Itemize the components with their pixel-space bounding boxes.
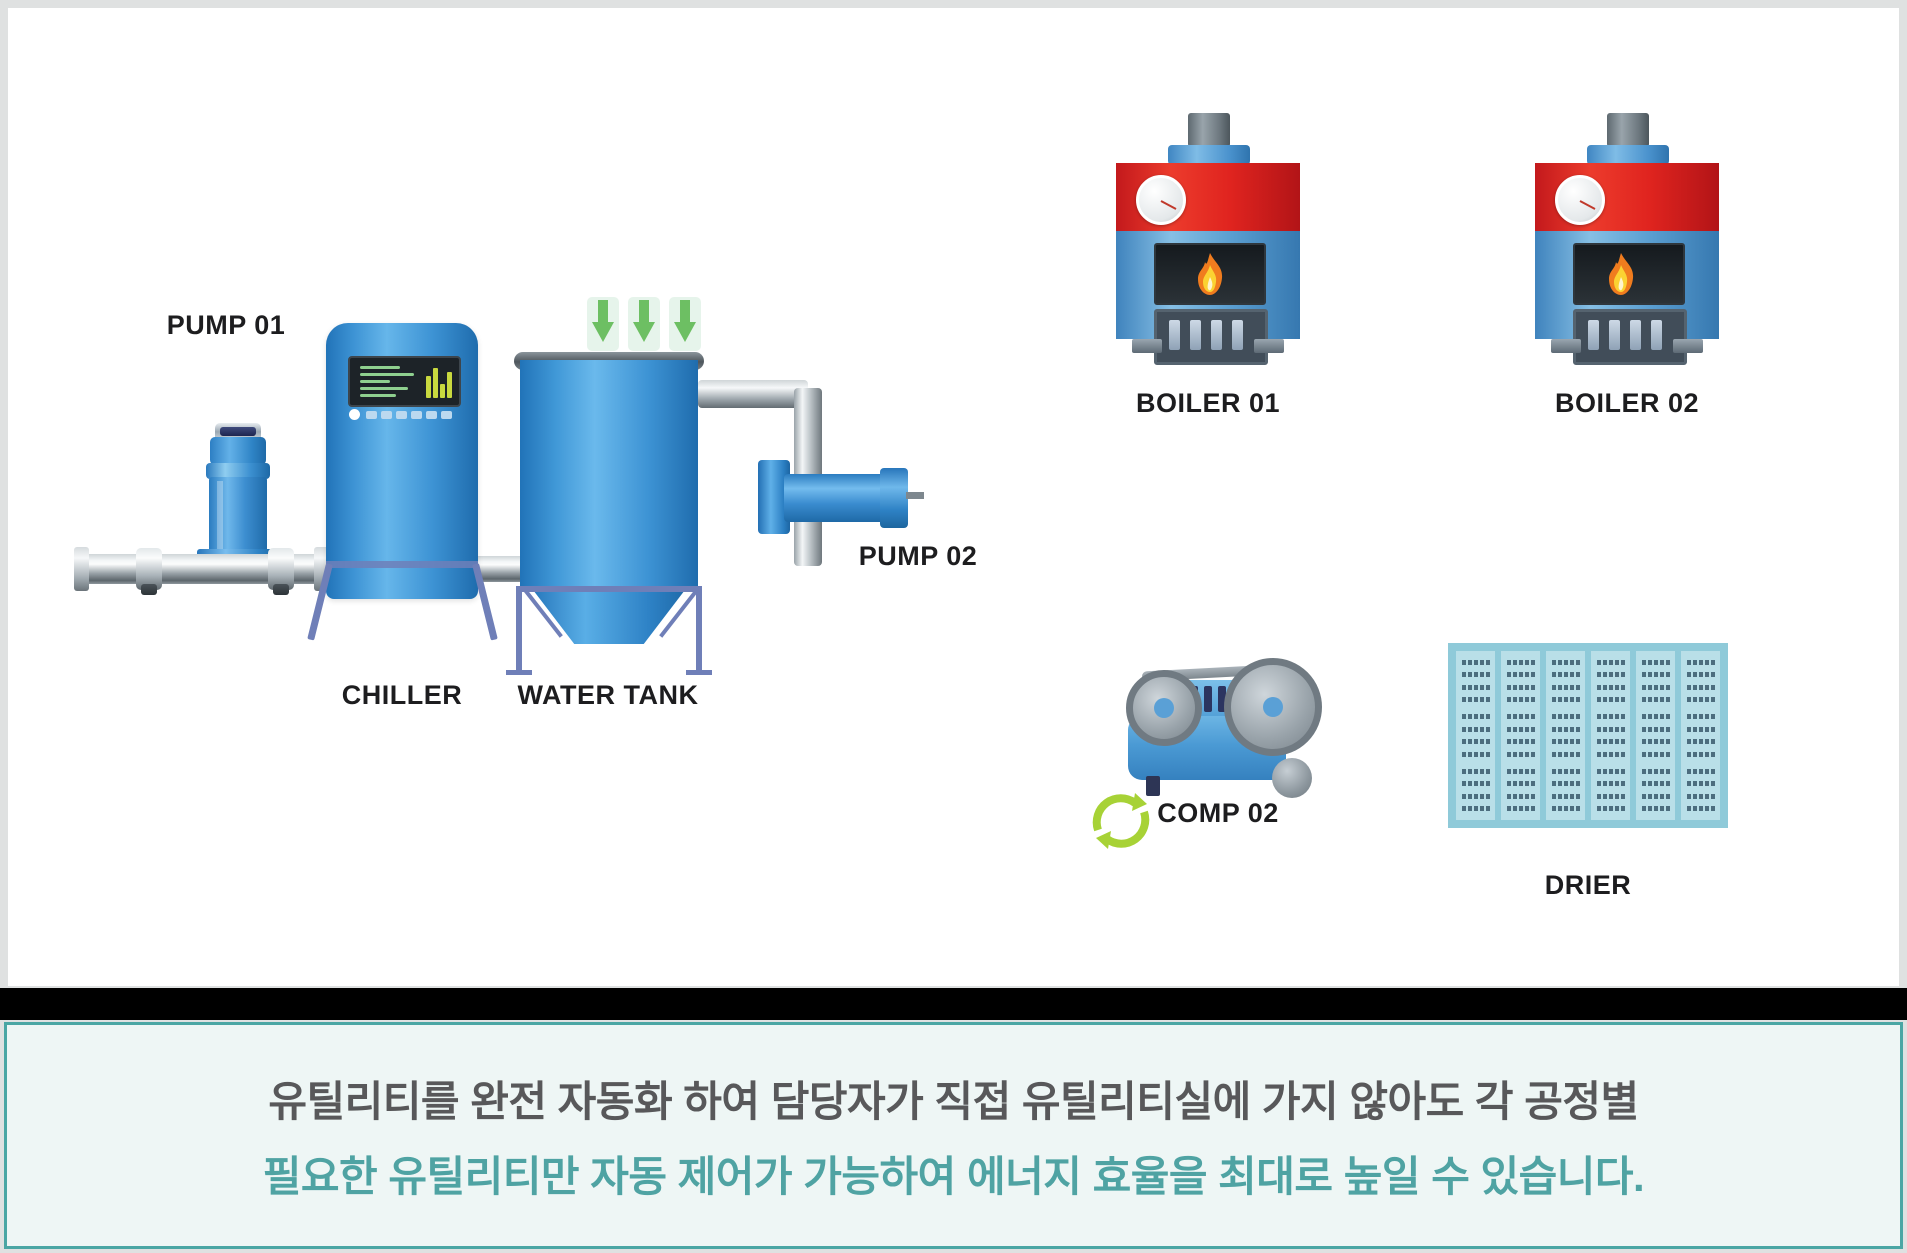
water-tank-frame-top	[516, 586, 702, 592]
drier-cell	[1504, 711, 1537, 761]
chiller-screen-line	[360, 387, 408, 390]
gauge-needle	[1580, 200, 1596, 210]
boiler-02-foot-right	[1673, 339, 1703, 353]
water-tank-label: WATER TANK	[466, 680, 750, 711]
pump-02-label: PUMP 02	[828, 541, 1008, 572]
boiler-01-foot-left	[1132, 339, 1162, 353]
boiler-01-firebox	[1154, 243, 1266, 305]
drier-panel	[1591, 651, 1630, 820]
chiller-screen-line	[360, 380, 390, 383]
chiller-screen-bar	[447, 372, 452, 398]
chiller-indicator	[441, 411, 452, 419]
drier-cell	[1594, 765, 1627, 815]
compressor-fin	[1204, 686, 1212, 712]
chiller-screen-line	[360, 366, 400, 369]
drier-cell	[1594, 711, 1627, 761]
boiler-01-label: BOILER 01	[1098, 388, 1318, 419]
inlet-arrow-icon	[674, 300, 696, 348]
drier-cell	[1684, 711, 1717, 761]
compressor-caster-wheel	[1272, 758, 1312, 798]
chiller-screen-line	[360, 373, 414, 376]
drier-panel	[1456, 651, 1495, 820]
boiler-01-grille	[1154, 309, 1268, 365]
drier-cell	[1639, 765, 1672, 815]
chiller-screen-bar	[440, 384, 445, 398]
inlet-arrow-icon	[592, 300, 614, 348]
chiller-status-led	[349, 409, 360, 420]
caption-line-1: 유틸리티를 완전 자동화 하여 담당자가 직접 유틸리티실에 가지 않아도 각 …	[268, 1068, 1638, 1129]
chiller-illustration	[326, 323, 478, 599]
water-tank-illustration	[520, 360, 698, 588]
arrow-head	[633, 322, 655, 342]
pump-02-pipe-horizontal	[698, 380, 808, 408]
drier-panel	[1501, 651, 1540, 820]
boiler-02-collar	[1587, 145, 1669, 165]
arrow-head	[592, 322, 614, 342]
divider-bar	[0, 988, 1907, 1020]
grille-slat	[1211, 320, 1222, 350]
water-tank-frame-foot-l	[506, 670, 532, 675]
boiler-01-foot-right	[1254, 339, 1284, 353]
grille-slat	[1609, 320, 1620, 350]
drier-panel	[1546, 651, 1585, 820]
chiller-indicator	[396, 411, 407, 419]
water-tank-cone	[530, 586, 688, 644]
chiller-screen-line	[360, 394, 396, 397]
pump-01-body	[209, 477, 267, 555]
arrow-shaft	[639, 300, 649, 324]
chiller-indicator	[426, 411, 437, 419]
boiler-02-label: BOILER 02	[1517, 388, 1737, 419]
chiller-display-screen	[348, 356, 461, 407]
diagram-canvas: PUMP 01	[8, 8, 1899, 986]
pressure-gauge-icon	[1555, 175, 1605, 225]
chiller-indicator	[381, 411, 392, 419]
pump-02-outlet-stub	[906, 492, 924, 499]
drier-cell	[1459, 656, 1492, 706]
pressure-gauge-icon	[1136, 175, 1186, 225]
grille-slat	[1190, 320, 1201, 350]
boiler-02-firebox	[1573, 243, 1685, 305]
caption-line-2: 필요한 유틸리티만 자동 제어가 가능하여 에너지 효율을 최대로 높일 수 있…	[263, 1143, 1644, 1204]
boiler-02-grille	[1573, 309, 1687, 365]
drier-cell	[1459, 765, 1492, 815]
chiller-screen-bar	[426, 376, 431, 398]
drier-cell	[1549, 656, 1582, 706]
compressor-drain-valve	[1146, 776, 1160, 796]
boiler-02-foot-left	[1551, 339, 1581, 353]
chiller-screen-bar	[433, 368, 438, 398]
inlet-arrow-icon	[633, 300, 655, 348]
water-tank-frame-leg-r	[696, 586, 702, 674]
compressor-flywheel-left	[1126, 670, 1202, 746]
boiler-02-illustration	[1535, 113, 1719, 343]
drier-cell	[1684, 765, 1717, 815]
boiler-01-collar	[1168, 145, 1250, 165]
drier-panel	[1681, 651, 1720, 820]
drier-cell	[1639, 711, 1672, 761]
drier-cell	[1504, 656, 1537, 706]
comp-02-label: COMP 02	[1108, 798, 1328, 829]
arrow-head	[674, 322, 696, 342]
grille-slat	[1651, 320, 1662, 350]
drier-cell	[1684, 656, 1717, 706]
pipe-end-flange-left	[74, 547, 89, 591]
flywheel-hub	[1263, 697, 1283, 717]
pump-02-motor	[880, 468, 908, 528]
chiller-label: CHILLER	[312, 680, 492, 711]
water-tank-frame-leg-l	[516, 586, 522, 674]
boiler-02-flue-stack	[1607, 113, 1649, 147]
grille-slat	[1588, 320, 1599, 350]
boiler-01-illustration	[1116, 113, 1300, 343]
drier-cell	[1549, 765, 1582, 815]
pump-01-label: PUMP 01	[136, 310, 316, 341]
pipe-bolt-1-nut	[141, 584, 157, 595]
pump-01-neck	[210, 437, 266, 465]
compressor-flywheel-right	[1224, 658, 1322, 756]
boiler-01-flue-stack	[1188, 113, 1230, 147]
gauge-needle	[1161, 200, 1177, 210]
pump-01-illustration	[193, 423, 283, 563]
drier-illustration	[1448, 643, 1728, 828]
grille-slat	[1232, 320, 1243, 350]
arrow-shaft	[680, 300, 690, 324]
drier-cell	[1504, 765, 1537, 815]
comp-02-illustration	[1114, 646, 1314, 796]
drier-cell	[1459, 711, 1492, 761]
grille-slat	[1630, 320, 1641, 350]
pipe-bolt-2-nut	[273, 584, 289, 595]
pump-01-motor-top	[220, 427, 256, 436]
arrow-shaft	[598, 300, 608, 324]
drier-cell	[1594, 656, 1627, 706]
drier-cell	[1549, 711, 1582, 761]
flywheel-hub	[1154, 698, 1174, 718]
slide-page: PUMP 01	[0, 0, 1907, 1253]
water-tank-frame-foot-r	[686, 670, 712, 675]
chiller-indicator	[411, 411, 422, 419]
drier-label: DRIER	[1478, 870, 1698, 901]
chiller-indicator	[366, 411, 377, 419]
drier-panel	[1636, 651, 1675, 820]
grille-slat	[1169, 320, 1180, 350]
chiller-band	[326, 561, 478, 568]
caption-box: 유틸리티를 완전 자동화 하여 담당자가 직접 유틸리티실에 가지 않아도 각 …	[4, 1022, 1903, 1249]
pump-02-body	[784, 474, 886, 522]
drier-cell	[1639, 656, 1672, 706]
